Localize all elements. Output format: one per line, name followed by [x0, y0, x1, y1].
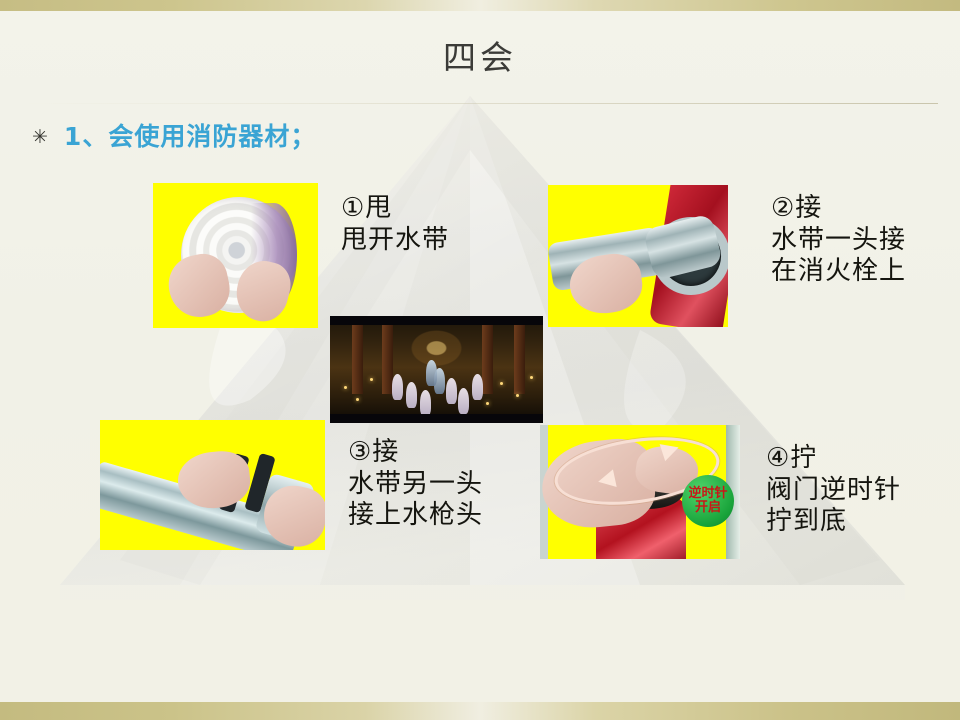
caption-step-3: ③接 水带另一头 接上水枪头 [348, 437, 483, 532]
title-divider [22, 103, 938, 104]
bullet-line: ✳ 1、会使用消防器材； [32, 124, 316, 149]
palace-dance-video[interactable] [330, 316, 543, 423]
slide-title: 四会 [0, 38, 960, 78]
hose-roll-photo [153, 183, 318, 328]
caption-step-1: ①甩 甩开水带 [341, 193, 449, 256]
rotation-arrow-head-left [596, 469, 616, 490]
bottom-border-band [0, 702, 960, 720]
slide-canvas: 四会 ✳ 1、会使用消防器材； ①甩 甩开水带 ②接 水带一头接 在消火栓上 [0, 0, 960, 720]
nozzle-photo [100, 420, 325, 550]
top-border-band [0, 0, 960, 11]
caption-step-4: ④拧 阀门逆时针 拧到底 [766, 443, 901, 538]
asterisk-bullet-icon: ✳ [32, 128, 48, 147]
counterclockwise-badge: 逆时针 开启 [682, 475, 734, 527]
caption-step-2: ②接 水带一头接 在消火栓上 [771, 193, 906, 288]
palace-hall-scene [330, 316, 543, 423]
valve-turn-photo: 逆时针 开启 [540, 425, 740, 559]
badge-line-1: 逆时针 [688, 487, 727, 501]
badge-line-2: 开启 [695, 501, 721, 515]
coupling-to-hydrant-photo [548, 185, 728, 327]
bullet-text: 1、会使用消防器材； [64, 124, 316, 149]
